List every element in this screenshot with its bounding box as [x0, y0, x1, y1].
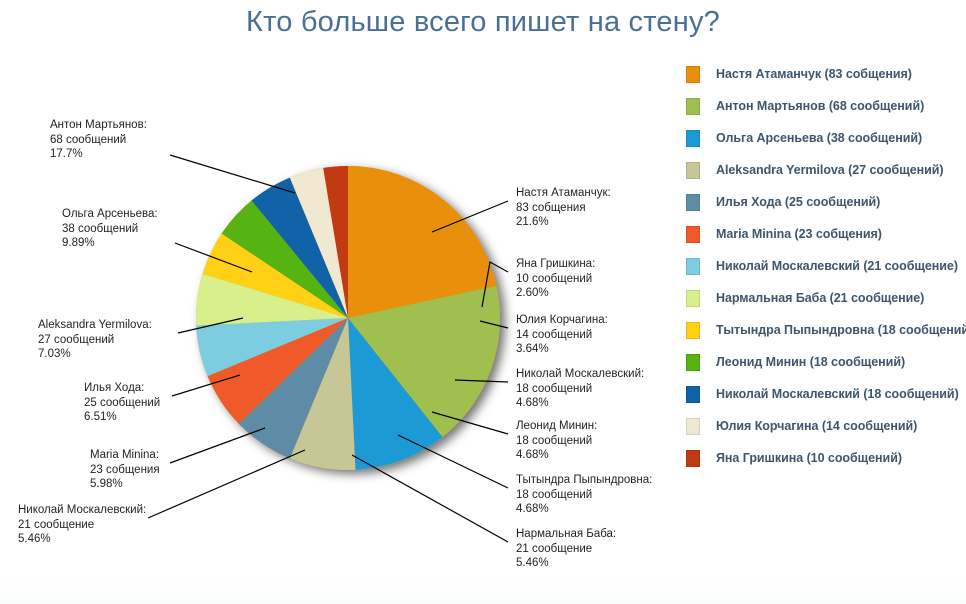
legend-item[interactable]: Тытындра Пыпындровна (18 сообщений)	[686, 314, 966, 346]
pie-chart-figure: Кто больше всего пишет на стену?	[0, 0, 966, 604]
callout-count: 27 сообщений	[38, 333, 152, 348]
legend-item-label: Илья Хода (25 сообщений)	[716, 195, 880, 209]
callout-name: Антон Мартьянов:	[50, 118, 147, 133]
callout-count: 18 сообщений	[516, 434, 597, 449]
callout-name: Леонид Минин:	[516, 419, 597, 434]
callout-name: Ольга Арсеньева:	[62, 207, 158, 222]
callout-percent: 3.64%	[516, 342, 608, 357]
legend-item[interactable]: Ольга Арсеньева (38 сообщений)	[686, 122, 966, 154]
legend-item[interactable]: Илья Хода (25 сообщений)	[686, 186, 966, 218]
legend-item-label: Нармальная Баба (21 сообщение)	[716, 291, 924, 305]
legend-item-label: Антон Мартьянов (68 сообщений)	[716, 99, 924, 113]
callout-count: 18 сообщений	[516, 382, 644, 397]
legend-color-swatch	[686, 450, 700, 467]
legend-color-swatch	[686, 290, 700, 307]
callout-ilya-khoda: Илья Хода: 25 сообщений 6.51%	[84, 381, 160, 425]
legend-item-label: Юлия Корчагина (14 сообщений)	[716, 419, 917, 433]
legend-item[interactable]: Николай Москалевский (21 сообщение)	[686, 250, 966, 282]
callout-percent: 6.51%	[84, 410, 160, 425]
legend-color-swatch	[686, 418, 700, 435]
callout-yuliya-korchagina: Юлия Корчагина: 14 сообщений 3.64%	[516, 313, 608, 357]
legend-item[interactable]: Николай Москалевский (18 сообщений)	[686, 378, 966, 410]
callout-percent: 5.98%	[90, 477, 160, 492]
callout-percent: 7.03%	[38, 347, 152, 362]
callout-olga-arsenyeva: Ольга Арсеньева: 38 сообщений 9.89%	[62, 207, 158, 251]
legend-item[interactable]: Юлия Корчагина (14 сообщений)	[686, 410, 966, 442]
legend-item[interactable]: Настя Атаманчук (83 собщения)	[686, 58, 966, 90]
callout-leonid-minin: Леонид Минин: 18 сообщений 4.68%	[516, 419, 597, 463]
pie-graphic	[186, 156, 516, 486]
legend-color-swatch	[686, 322, 700, 339]
callout-nastya-atamanchuk: Настя Атаманчук: 83 собщения 21.6%	[516, 186, 611, 230]
legend-color-swatch	[686, 194, 700, 211]
legend-item[interactable]: Maria Minina (23 собщения)	[686, 218, 966, 250]
legend-color-swatch	[686, 130, 700, 147]
callout-count: 25 сообщений	[84, 396, 160, 411]
callout-percent: 17.7%	[50, 147, 147, 162]
legend-color-swatch	[686, 354, 700, 371]
callout-name: Николай Москалевский:	[18, 503, 146, 518]
legend-item[interactable]: Яна Гришкина (10 сообщений)	[686, 442, 966, 474]
callout-percent: 4.68%	[516, 448, 597, 463]
callout-count: 83 собщения	[516, 201, 611, 216]
legend-color-swatch	[686, 226, 700, 243]
callout-name: Юлия Корчагина:	[516, 313, 608, 328]
legend-item-label: Aleksandra Yermilova (27 сообщений)	[716, 163, 944, 177]
legend-color-swatch	[686, 98, 700, 115]
callout-nikolay-moskalevsky-18: Николай Москалевский: 18 сообщений 4.68%	[516, 367, 644, 411]
pie-slices	[196, 166, 500, 470]
callout-nikolay-moskalevsky-21: Николай Москалевский: 21 сообщение 5.46%	[18, 503, 146, 547]
legend-color-swatch	[686, 162, 700, 179]
legend-item[interactable]: Нармальная Баба (21 сообщение)	[686, 282, 966, 314]
callout-count: 21 сообщение	[18, 518, 146, 533]
callout-name: Тытындра Пыпындровна:	[516, 473, 652, 488]
callout-count: 68 сообщений	[50, 133, 147, 148]
callout-count: 10 сообщений	[516, 272, 595, 287]
chart-title: Кто больше всего пишет на стену?	[0, 6, 966, 39]
callout-name: Илья Хода:	[84, 381, 160, 396]
legend-item-label: Леонид Минин (18 сообщений)	[716, 355, 905, 369]
callout-percent: 5.46%	[18, 532, 146, 547]
legend-item[interactable]: Aleksandra Yermilova (27 сообщений)	[686, 154, 966, 186]
callout-name: Яна Гришкина:	[516, 257, 595, 272]
legend-item-label: Настя Атаманчук (83 собщения)	[716, 67, 912, 81]
callout-narmalnaya-baba: Нармальная Баба: 21 сообщение 5.46%	[516, 527, 616, 571]
legend: Настя Атаманчук (83 собщения)Антон Марть…	[686, 58, 966, 518]
callout-count: 18 сообщений	[516, 488, 652, 503]
legend-item-label: Николай Москалевский (18 сообщений)	[716, 387, 959, 401]
callout-percent: 21.6%	[516, 215, 611, 230]
callout-name: Николай Москалевский:	[516, 367, 644, 382]
callout-count: 23 собщения	[90, 463, 160, 478]
callout-percent: 4.68%	[516, 396, 644, 411]
callout-percent: 2.60%	[516, 286, 595, 301]
pie-svg	[186, 156, 516, 486]
callout-maria-minina: Maria Minina: 23 собщения 5.98%	[90, 448, 160, 492]
callout-count: 38 сообщений	[62, 222, 158, 237]
callout-name: Aleksandra Yermilova:	[38, 318, 152, 333]
legend-color-swatch	[686, 386, 700, 403]
legend-color-swatch	[686, 258, 700, 275]
legend-item-label: Яна Гришкина (10 сообщений)	[716, 451, 902, 465]
callout-aleksandra-yermilova: Aleksandra Yermilova: 27 сообщений 7.03%	[38, 318, 152, 362]
legend-item[interactable]: Леонид Минин (18 сообщений)	[686, 346, 966, 378]
callout-percent: 9.89%	[62, 236, 158, 251]
callout-yana-grishkina: Яна Гришкина: 10 сообщений 2.60%	[516, 257, 595, 301]
callout-anton-martyanov: Антон Мартьянов: 68 сообщений 17.7%	[50, 118, 147, 162]
callout-percent: 4.68%	[516, 502, 652, 517]
callout-count: 14 сообщений	[516, 328, 608, 343]
legend-item-label: Николай Москалевский (21 сообщение)	[716, 259, 958, 273]
legend-item[interactable]: Антон Мартьянов (68 сообщений)	[686, 90, 966, 122]
legend-color-swatch	[686, 66, 700, 83]
callout-name: Настя Атаманчук:	[516, 186, 611, 201]
callout-name: Нармальная Баба:	[516, 527, 616, 542]
legend-item-label: Тытындра Пыпындровна (18 сообщений)	[716, 323, 966, 337]
callout-percent: 5.46%	[516, 556, 616, 571]
legend-item-label: Ольга Арсеньева (38 сообщений)	[716, 131, 922, 145]
callout-tytyndra-pypyndrovna: Тытындра Пыпындровна: 18 сообщений 4.68%	[516, 473, 652, 517]
callout-name: Maria Minina:	[90, 448, 160, 463]
callout-count: 21 сообщение	[516, 542, 616, 557]
legend-item-label: Maria Minina (23 собщения)	[716, 227, 882, 241]
